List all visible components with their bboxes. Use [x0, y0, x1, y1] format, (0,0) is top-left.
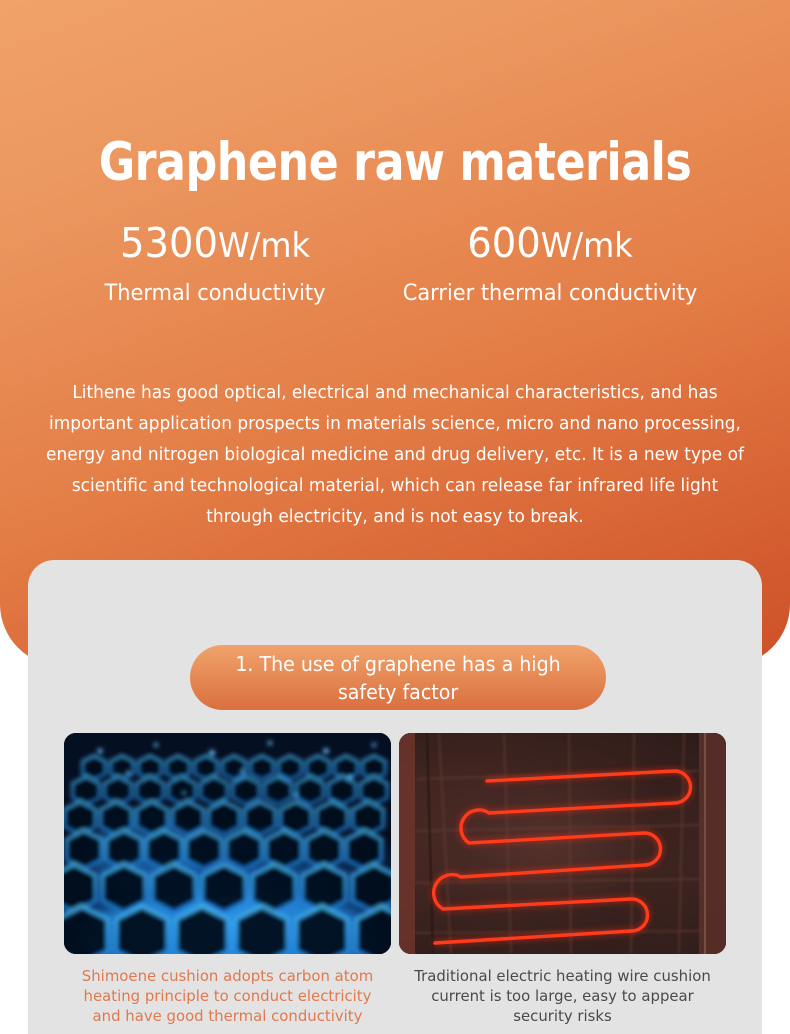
- cushion-artwork: [399, 733, 726, 954]
- feature-card: 1. The use of graphene has a high safety…: [28, 560, 762, 1034]
- section-heading-badge: 1. The use of graphene has a high safety…: [190, 645, 606, 710]
- stat-value: 5300W/mk: [69, 216, 360, 273]
- stat-unit: W/mk: [218, 226, 310, 266]
- heated-seat-cushion-wire-photo: [399, 733, 726, 954]
- graphene-honeycomb-lattice-photo: [64, 733, 391, 954]
- stat-carrier-thermal-conductivity: 600W/mk Carrier thermal conductivity: [370, 216, 730, 309]
- promo-page: Graphene raw materials 5300W/mk Thermal …: [0, 0, 790, 1034]
- stat-number: 600: [467, 219, 541, 267]
- stat-number: 5300: [120, 219, 218, 267]
- page-title: Graphene raw materials: [28, 132, 763, 193]
- stat-unit: W/mk: [541, 226, 633, 266]
- stat-thermal-conductivity: 5300W/mk Thermal conductivity: [60, 216, 370, 309]
- comparison-caption: Traditional electric heating wire cushio…: [406, 966, 720, 1026]
- stats-row: 5300W/mk Thermal conductivity 600W/mk Ca…: [0, 216, 790, 309]
- stat-value: 600W/mk: [381, 216, 719, 273]
- comparison-row: Shimoene cushion adopts carbon atom heat…: [28, 733, 762, 1026]
- comparison-item-traditional: Traditional electric heating wire cushio…: [399, 733, 726, 1026]
- stat-label: Carrier thermal conductivity: [379, 279, 721, 309]
- comparison-caption: Shimoene cushion adopts carbon atom heat…: [71, 966, 385, 1026]
- hero-description: Lithene has good optical, electrical and…: [39, 378, 751, 533]
- lattice-artwork: [64, 733, 391, 954]
- section-heading-text: 1. The use of graphene has a high safety…: [221, 650, 574, 706]
- comparison-item-graphene: Shimoene cushion adopts carbon atom heat…: [64, 733, 391, 1026]
- stat-label: Thermal conductivity: [68, 279, 363, 309]
